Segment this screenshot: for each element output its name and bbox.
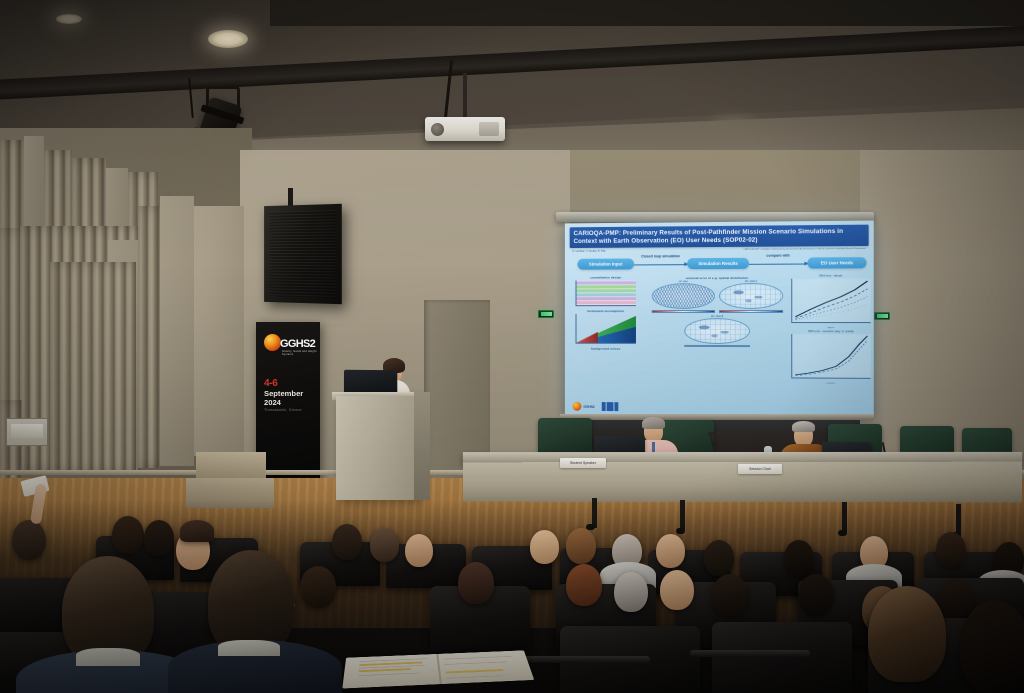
- label-constellation-design: constellation design: [576, 275, 636, 279]
- world-map-icon: [652, 283, 715, 309]
- slide-affiliation-note: CARIOQA-PMP: Cold Atom Interferometry an…: [744, 248, 866, 252]
- rms-error-resolution-chart: [791, 334, 870, 379]
- audience-head: [112, 516, 144, 554]
- booklet-text-line: [446, 675, 503, 678]
- booklet-highlight: [445, 669, 503, 673]
- audience-head: [180, 520, 214, 542]
- booklet-highlight: [358, 668, 411, 672]
- slide-logos: GGHS2: [573, 402, 618, 411]
- auditorium-photo: CARIOQA-PMP: Preliminary Results of Post…: [0, 0, 1024, 693]
- audience-head-foreground: [868, 586, 946, 682]
- panelist-hair: [642, 417, 665, 429]
- tum-bar: [606, 402, 613, 411]
- audience-head: [784, 540, 814, 576]
- nameplate: Student Speaker: [560, 458, 606, 468]
- nameplate-text: Student Speaker: [570, 461, 596, 465]
- auditorium-seat[interactable]: [712, 622, 852, 693]
- world-map-icon: [684, 318, 750, 344]
- audience-head: [370, 528, 399, 562]
- audience-head: [405, 534, 433, 567]
- audience-head: [566, 528, 596, 564]
- nameplate: Session Chair: [738, 464, 782, 474]
- globe-row-top: ref. case sim. case A: [648, 280, 787, 313]
- gghs2-logo: GGHS2: [573, 402, 595, 411]
- colorbar: [652, 310, 715, 313]
- tum-logo: [601, 402, 618, 411]
- audience-head: [144, 520, 174, 556]
- panelist-hair: [792, 421, 815, 432]
- pa-speaker-icon: [264, 204, 342, 304]
- slide-title: CARIOQA-PMP: Preliminary Results of Post…: [570, 225, 869, 249]
- tum-bar: [614, 402, 618, 411]
- globe-caption: sim. case A: [719, 280, 783, 283]
- slide-author-line: K. Lechner, T. Gruber, R. Pail CARIOQA-P…: [570, 246, 869, 253]
- banner-logo-subtitle: Gravity, Geoid and Height Systems: [282, 350, 320, 356]
- seat-armrest: [520, 656, 650, 663]
- flow-box-simulation-results: Simulation Results: [687, 258, 749, 269]
- exit-sign-icon: [874, 312, 890, 320]
- banner-dates: 4-6: [264, 378, 278, 389]
- wall-panel: [160, 196, 194, 466]
- banner-logo-text: GGHS2: [280, 338, 315, 350]
- audience-head: [332, 524, 362, 560]
- projector-mount: [463, 73, 467, 119]
- ceiling-downlight: [56, 14, 82, 24]
- rms-error-latitude-chart: [791, 279, 870, 324]
- label-background-noises: background noises: [576, 347, 636, 351]
- label-instrument-assumptions: instrument assumptions: [576, 309, 636, 313]
- audience-head: [530, 530, 559, 564]
- audience-head: [458, 562, 494, 604]
- instrument-assumptions-chart: [576, 314, 636, 344]
- nameplate-text: Session Chair: [749, 467, 771, 471]
- audience-collar: [76, 648, 140, 666]
- audience-head: [712, 574, 748, 616]
- banner-location: Thessaloniki, Greece: [264, 408, 302, 412]
- flow-arrow-1: [634, 264, 687, 265]
- globe-caption: ref. case: [652, 280, 715, 283]
- booklet-text-line: [444, 662, 507, 665]
- audience-head: [704, 540, 734, 576]
- acoustic-slat-panel: [50, 262, 136, 474]
- presentation-slide: CARIOQA-PMP: Preliminary Results of Post…: [565, 221, 874, 418]
- globe-panel: ref. case: [652, 280, 715, 313]
- table-caster: [676, 528, 685, 534]
- speaker-grill: [270, 210, 336, 298]
- audience-head: [660, 570, 694, 610]
- audience-head: [566, 564, 602, 606]
- booklet-text-line: [358, 673, 419, 676]
- booklet-spine: [436, 654, 441, 684]
- gghs2-globe-icon: [264, 334, 281, 351]
- ceiling-downlight: [208, 30, 248, 48]
- flow-box-simulation-input: Simulation Input: [577, 259, 634, 270]
- projection-screen: CARIOQA-PMP: Preliminary Results of Post…: [565, 221, 874, 418]
- globe-panel: sim. case A: [719, 280, 783, 313]
- audience-head: [12, 520, 46, 560]
- chart2-svg: [792, 334, 870, 378]
- screen-bottom-bar: [560, 414, 874, 420]
- audience-head: [656, 534, 685, 568]
- tum-bar: [601, 402, 605, 411]
- table-leg: [956, 504, 961, 534]
- ceiling-recess: [270, 0, 1024, 26]
- table-caster: [838, 530, 847, 536]
- projector-lens: [431, 123, 444, 136]
- slide-column-charts: RMS error - latitude degree RMS error - …: [791, 274, 870, 385]
- audience-head: [798, 574, 834, 616]
- chart2-title: RMS error - resolution (deg / d. spatial…: [791, 330, 870, 333]
- colorbar: [684, 345, 750, 348]
- flow-box-eo-user-needs: EO User Needs: [807, 257, 866, 268]
- slide-panels: constellation design instrument assumpti…: [570, 274, 869, 388]
- wall-panel: [194, 206, 244, 456]
- exit-sign-glow: [541, 312, 552, 316]
- exit-sign-glow: [877, 314, 888, 318]
- banner-month-year: September 2024: [264, 390, 320, 407]
- slide-flow-diagram: Simulation Input Closed loop simulation …: [570, 253, 869, 275]
- globe-caption: sim. case B: [684, 315, 750, 318]
- stage-step-lower: [186, 478, 274, 508]
- constellation-design-chart: [576, 280, 636, 306]
- projector-icon: [425, 117, 505, 141]
- table-leg: [680, 500, 685, 530]
- acoustic-slat-panel: [138, 206, 160, 468]
- flow-label-compare-with: compare with: [751, 254, 805, 259]
- flow-arrow-2: [749, 263, 807, 265]
- chart1-svg: [792, 279, 870, 323]
- audience-collar: [218, 640, 280, 656]
- chart1-title: RMS error - latitude: [791, 274, 870, 278]
- colorbar: [719, 310, 783, 313]
- globe-logo-icon: [573, 402, 582, 411]
- world-map-icon: [719, 283, 783, 309]
- chart2-xlabel: resolution: [791, 383, 870, 386]
- podium-side: [414, 392, 430, 500]
- slide-column-maps: retrieval error in e.g. spatial distribu…: [648, 276, 787, 348]
- program-booklet[interactable]: [342, 650, 534, 688]
- exit-sign-icon: [538, 310, 554, 318]
- wall-notice-board: [6, 418, 48, 446]
- area-series-red: [576, 314, 597, 343]
- globe-panel: sim. case B: [684, 315, 750, 348]
- flow-label-closed-loop: Closed loop simulation: [636, 254, 685, 258]
- audience-head: [614, 572, 648, 612]
- slide-column-inputs: constellation design instrument assumpti…: [576, 275, 636, 350]
- podium: [336, 396, 420, 500]
- slide-authors: K. Lechner, T. Gruber, R. Pail: [573, 249, 606, 253]
- booklet-text-line: [444, 656, 512, 659]
- audience-head: [300, 566, 336, 608]
- table-leg: [842, 502, 847, 532]
- seat-armrest: [690, 650, 810, 657]
- audience-head: [936, 532, 966, 568]
- gghs2-logo-text: GGHS2: [583, 404, 594, 408]
- microphone-head: [708, 432, 715, 436]
- audience-head-foreground: [960, 600, 1024, 693]
